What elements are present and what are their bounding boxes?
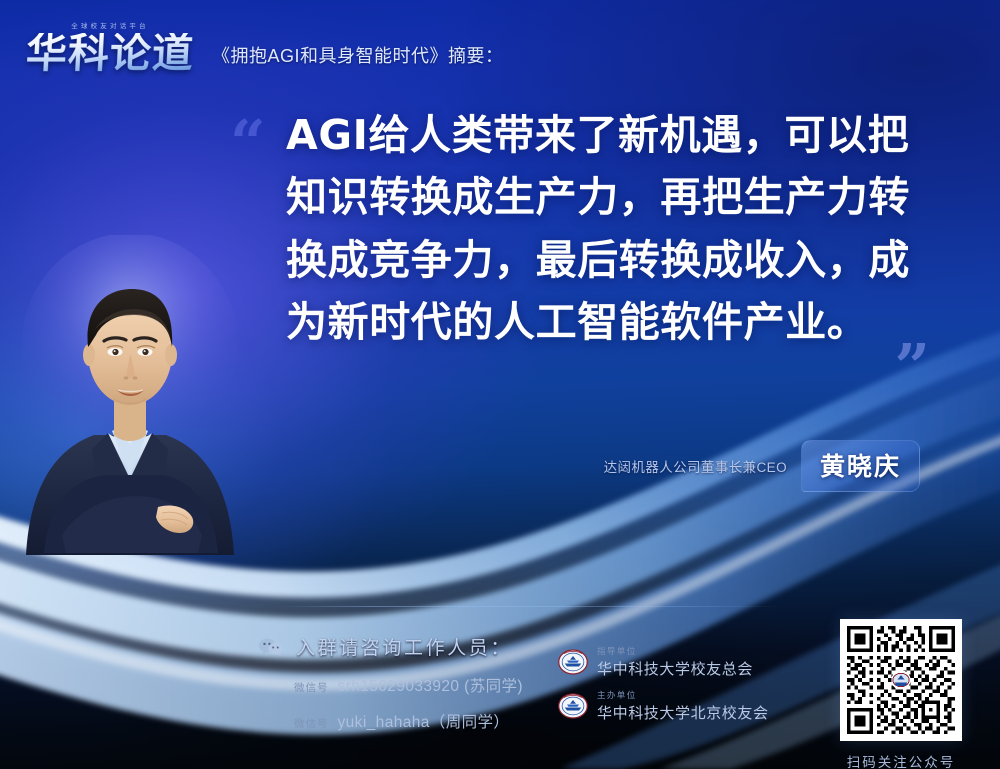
qr-code[interactable] [840,619,962,741]
speaker-portrait [22,235,238,555]
contact-row: 微信号 yuki_hahaha（周同学） [294,710,523,732]
partner-kind: 主办单位 [597,689,769,701]
quote-line: 换成竞争力，最后转换成收入，成 [286,229,948,291]
partner-text: 指导单位 华中科技大学校友总会 [597,645,753,679]
quote-block: “ AGI给人类带来了新机遇，可以把 知识转换成生产力，再把生产力转 换成竞争力… [228,104,948,353]
partner-name: 华中科技大学北京校友会 [597,702,769,723]
quote-close-icon: ” [894,336,930,398]
poster-footer: 入群请咨询工作人员： 微信号 srh15029033920 (苏同学) 微信号 … [0,609,1000,769]
logo-wordmark: 华科论道 [25,33,195,74]
quote-text: AGI给人类带来了新机遇，可以把 知识转换成生产力，再把生产力转 换成竞争力，最… [286,104,948,353]
qr-caption: 扫码关注公众号 [840,751,962,769]
attribution: 达闼机器人公司董事长兼CEO 黄晓庆 [604,440,920,492]
wechat-label: 微信号 [294,716,329,731]
partner-name: 华中科技大学校友总会 [597,658,753,679]
poster-header: 全球校友对话平台 华科论道 《拥抱AGI和具身智能时代》摘要： [0,0,1000,96]
hust-emblem-icon [558,691,588,721]
partner-item: 指导单位 华中科技大学校友总会 [558,645,769,679]
contact-block: 入群请咨询工作人员： 微信号 srh15029033920 (苏同学) 微信号 … [258,633,523,732]
quote-open-icon: “ [230,112,266,174]
partner-kind: 指导单位 [597,645,753,657]
page-title: 《拥抱AGI和具身智能时代》摘要： [212,42,504,68]
contact-row: 微信号 srh15029033920 (苏同学) [294,674,523,696]
contact-header: 入群请咨询工作人员： [258,633,523,660]
partner-text: 主办单位 华中科技大学北京校友会 [597,689,769,723]
poster-canvas: 全球校友对话平台 华科论道 《拥抱AGI和具身智能时代》摘要： “ AGI给人类… [0,0,1000,769]
quote-line: 知识转换成生产力，再把生产力转 [286,166,948,228]
partners-block: 指导单位 华中科技大学校友总会 主办单位 华中科技大学北京校友会 [558,645,769,733]
wechat-id[interactable]: yuki_hahaha（周同学） [338,710,510,732]
wechat-id[interactable]: srh15029033920 (苏同学) [338,674,524,696]
wechat-label: 微信号 [294,680,329,695]
brand-logo: 全球校友对话平台 华科论道 [26,22,194,74]
qr-code-image [847,626,955,734]
quote-line: 为新时代的人工智能软件产业。 [286,291,948,353]
speaker-name-badge: 黄晓庆 [801,440,920,492]
qr-block: 扫码关注公众号 [840,619,962,769]
wechat-icon [258,637,284,657]
quote-line: AGI给人类带来了新机遇，可以把 [286,104,948,166]
partner-item: 主办单位 华中科技大学北京校友会 [558,689,769,723]
footer-divider [283,606,783,607]
contact-title: 入群请咨询工作人员： [296,633,512,660]
hust-emblem-icon [558,647,588,677]
speaker-role: 达闼机器人公司董事长兼CEO [604,456,787,476]
